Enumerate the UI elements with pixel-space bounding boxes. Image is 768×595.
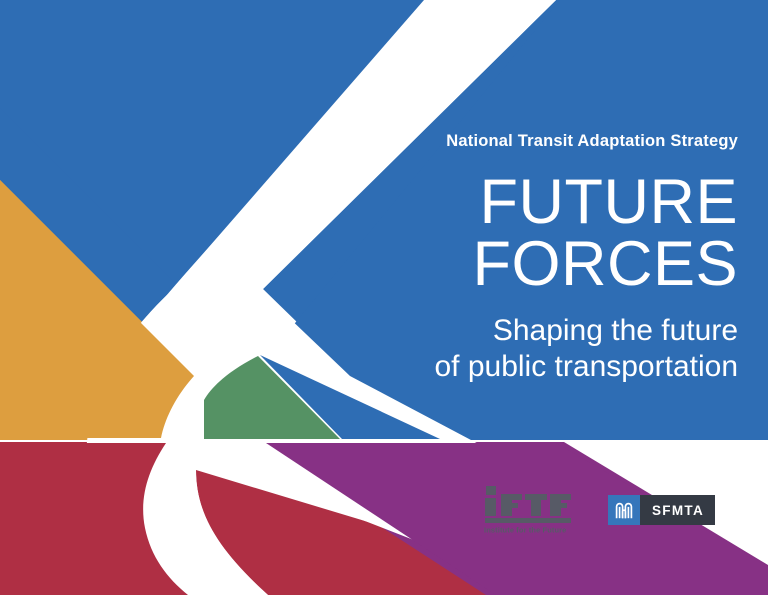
page-title: FUTURE FORCES [318,172,738,295]
sfmta-wordmark: SFMTA [640,495,715,525]
page-title-line-2: FORCES [318,234,738,296]
iftf-wordmark-icon [484,486,576,524]
page-title-line-1: FUTURE [318,172,738,234]
muni-m-icon [614,501,634,520]
page-subtitle-line-2: of public transportation [318,349,738,384]
page-subtitle: Shaping the future of public transportat… [318,313,738,384]
eyebrow-text: National Transit Adaptation Strategy [318,132,738,152]
logo-row: Institute for the Future SFMTA [484,486,715,535]
page-subtitle-line-1: Shaping the future [318,313,738,348]
title-block: National Transit Adaptation Strategy FUT… [318,132,738,384]
cover-page: National Transit Adaptation Strategy FUT… [0,0,768,595]
iftf-tagline: Institute for the Future [484,526,576,535]
sfmta-badge [608,495,640,525]
iftf-logo: Institute for the Future [484,486,576,535]
sfmta-logo: SFMTA [608,495,715,525]
